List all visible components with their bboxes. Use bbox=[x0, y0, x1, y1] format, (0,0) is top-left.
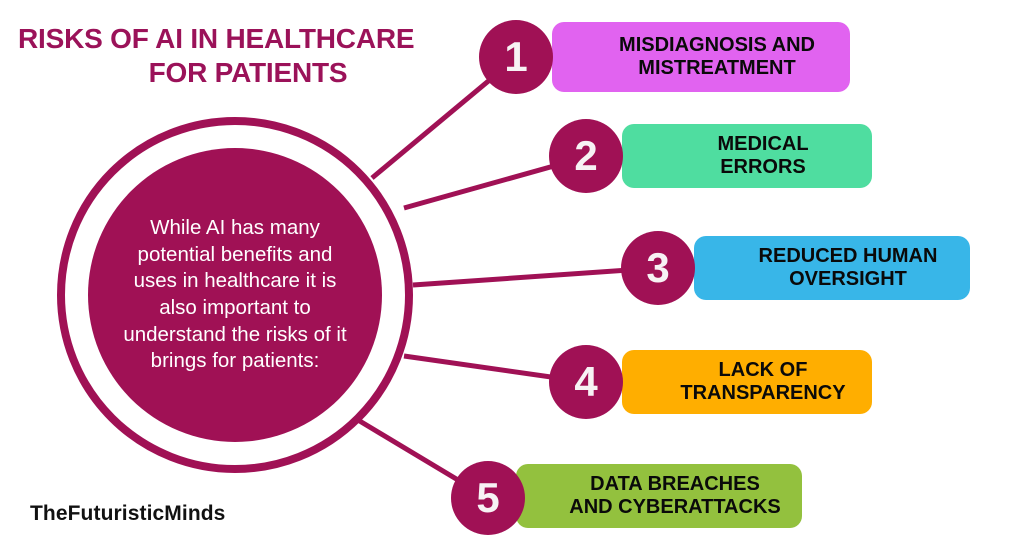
risk-number-5: 5 bbox=[476, 477, 499, 519]
risk-label-2-line-2: ERRORS bbox=[717, 156, 808, 179]
risk-number-1: 1 bbox=[504, 36, 527, 78]
risk-label-4-line-1: LACK OF bbox=[680, 359, 845, 382]
risk-bar-4[interactable]: LACK OF TRANSPARENCY bbox=[622, 350, 872, 414]
risk-bar-3[interactable]: REDUCED HUMAN OVERSIGHT bbox=[694, 236, 970, 300]
infographic-canvas: RISKS OF AI IN HEALTHCARE FOR PATIENTS W… bbox=[0, 0, 1024, 536]
risk-bar-2[interactable]: MEDICAL ERRORS bbox=[622, 124, 872, 188]
risk-number-badge-1[interactable]: 1 bbox=[479, 20, 553, 94]
risk-bar-5[interactable]: DATA BREACHES AND CYBERATTACKS bbox=[516, 464, 802, 528]
risk-number-badge-4[interactable]: 4 bbox=[549, 345, 623, 419]
center-disc: While AI has many potential benefits and… bbox=[88, 148, 382, 442]
risk-bar-1[interactable]: MISDIAGNOSIS AND MISTREATMENT bbox=[552, 22, 850, 92]
risk-number-badge-5[interactable]: 5 bbox=[451, 461, 525, 535]
risk-number-4: 4 bbox=[574, 361, 597, 403]
center-description: While AI has many potential benefits and… bbox=[119, 215, 351, 375]
risk-label-3-line-2: OVERSIGHT bbox=[759, 268, 938, 291]
brand-watermark: TheFuturisticMinds bbox=[30, 502, 225, 526]
risk-number-3: 3 bbox=[646, 247, 669, 289]
risk-number-2: 2 bbox=[574, 135, 597, 177]
risk-label-1-line-2: MISTREATMENT bbox=[619, 57, 815, 80]
risk-label-2-line-1: MEDICAL bbox=[717, 133, 808, 156]
risk-label-5-line-1: DATA BREACHES bbox=[569, 473, 780, 496]
risk-label-4-line-2: TRANSPARENCY bbox=[680, 382, 845, 405]
risk-label-5-line-2: AND CYBERATTACKS bbox=[569, 496, 780, 519]
risk-number-badge-3[interactable]: 3 bbox=[621, 231, 695, 305]
risk-number-badge-2[interactable]: 2 bbox=[549, 119, 623, 193]
risk-label-3-line-1: REDUCED HUMAN bbox=[759, 245, 938, 268]
risk-label-1-line-1: MISDIAGNOSIS AND bbox=[619, 34, 815, 57]
